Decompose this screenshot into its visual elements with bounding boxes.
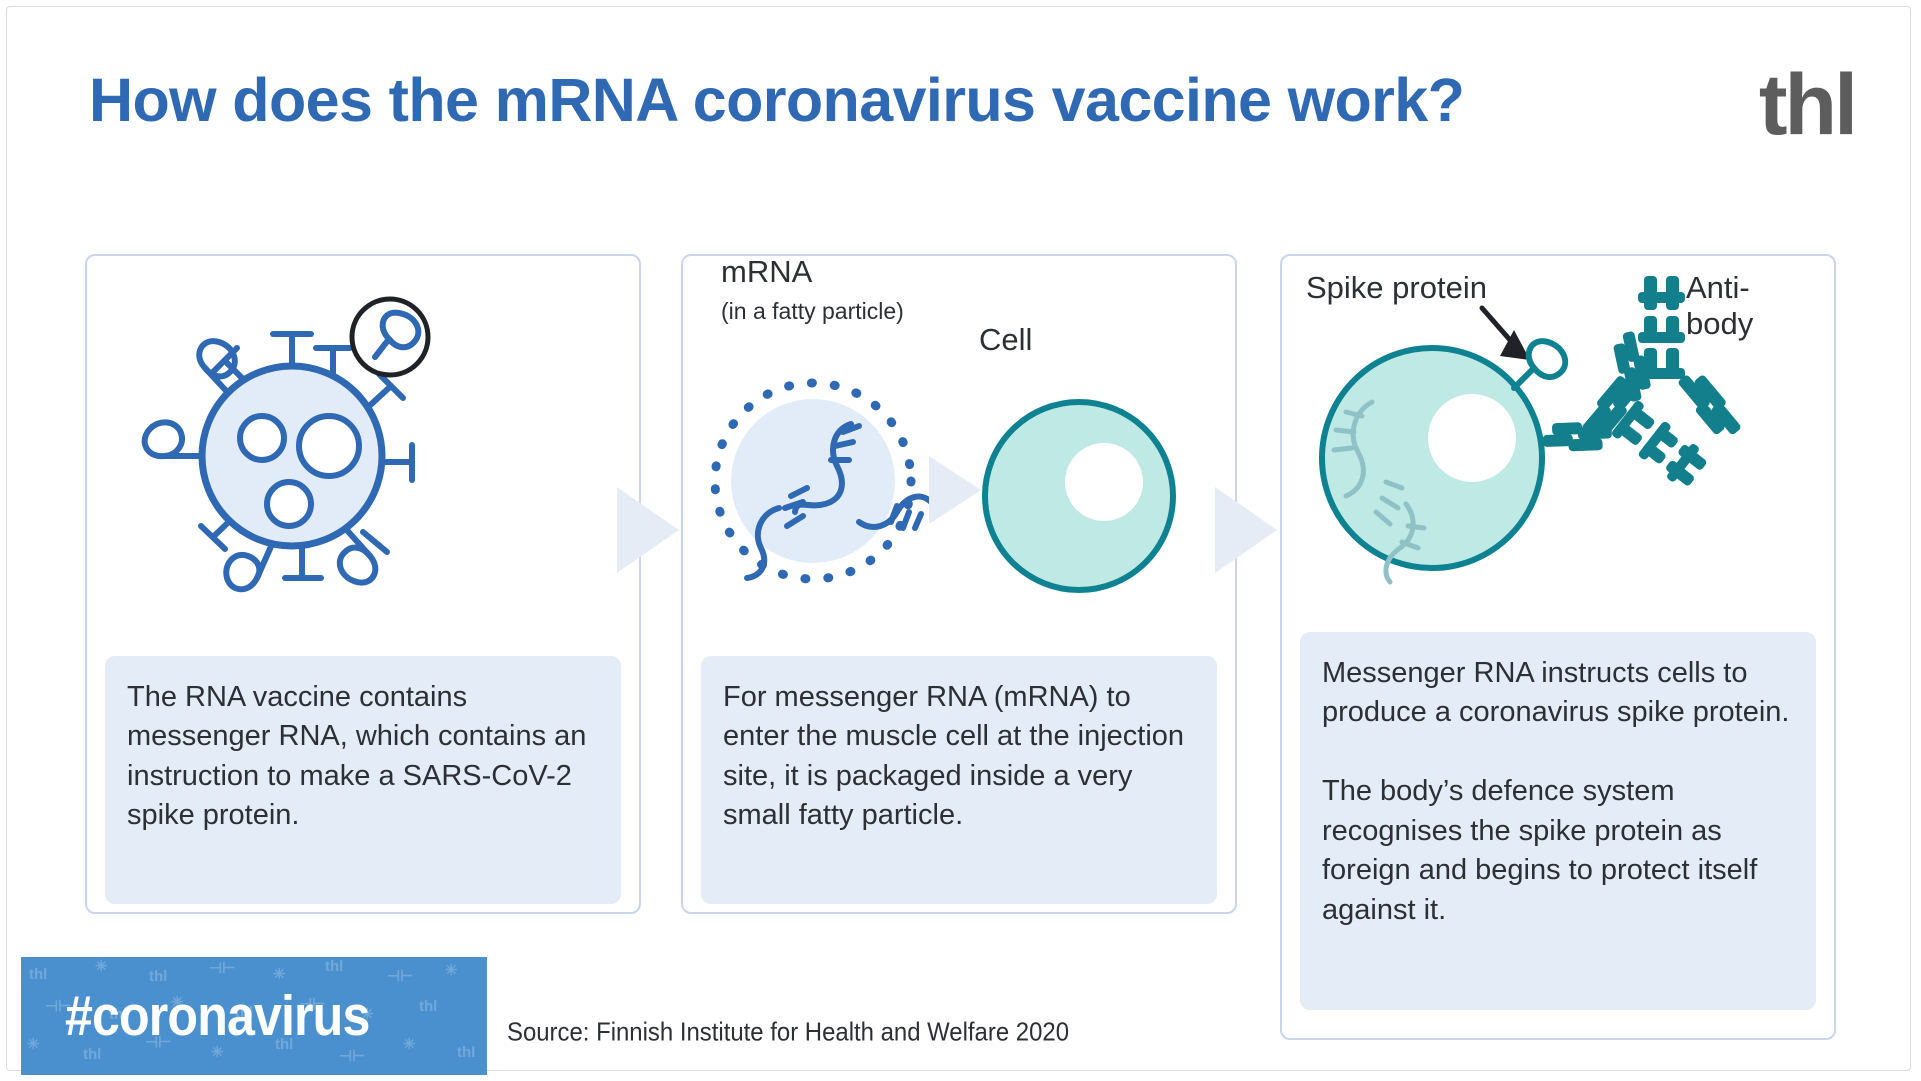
panel-1-artwork [87,256,639,656]
svg-text:✳: ✳ [445,962,458,979]
infographic-frame: How does the mRNA coronavirus vaccine wo… [6,6,1911,1071]
panel-step-1: The RNA vaccine contains messenger RNA, … [85,254,641,914]
hashtag-label: #coronavirus [65,983,369,1049]
panel-step-3: Spike protein Anti- body [1280,254,1836,1040]
source-label: Source: Finnish Institute for Health and… [507,1017,1069,1048]
svg-text:✳: ✳ [273,966,286,983]
cell-nucleus-icon [1428,394,1516,482]
svg-text:thl: thl [29,966,47,983]
coronavirus-particle-icon [87,256,643,656]
panel-3-artwork: Spike protein Anti- body [1282,256,1834,632]
svg-text:⊣⊢: ⊣⊢ [209,960,235,977]
panel-2-diagram [683,256,1239,656]
thl-logo: thl [1759,62,1855,148]
svg-text:⊣⊢: ⊣⊢ [339,1048,365,1065]
cell-nucleus-icon [1065,443,1143,521]
panel-step-2: mRNA (in a fatty particle) Cell [681,254,1237,914]
svg-text:✳: ✳ [27,1036,40,1053]
svg-text:⊣⊢: ⊣⊢ [387,968,413,985]
panel-2-caption: For messenger RNA (mRNA) to enter the mu… [701,656,1217,904]
svg-text:thl: thl [419,998,437,1015]
flow-arrow-icon [1215,487,1277,573]
flow-arrow-icon [617,487,679,573]
svg-text:thl: thl [325,958,343,975]
svg-text:✳: ✳ [403,1036,416,1053]
spike-protein-magnifier-icon [352,299,428,375]
hashtag-banner: thl ✳ thl ⊣⊢ ✳ thl ⊣⊢ ✳ ⊣⊢ thl ✳ thl ⊣⊢ … [21,957,487,1075]
panel-2-artwork: mRNA (in a fatty particle) Cell [683,256,1235,656]
panel-3-diagram [1282,256,1838,632]
inner-flow-arrow-icon [929,456,981,524]
svg-text:thl: thl [457,1044,475,1061]
pointer-arrow-icon [1482,308,1530,360]
antibody-icon [1581,276,1742,436]
svg-text:✳: ✳ [95,958,108,975]
panel-3-caption: Messenger RNA instructs cells to produce… [1300,632,1816,1010]
page-title: How does the mRNA coronavirus vaccine wo… [89,65,1489,136]
panel-1-caption: The RNA vaccine contains messenger RNA, … [105,656,621,904]
